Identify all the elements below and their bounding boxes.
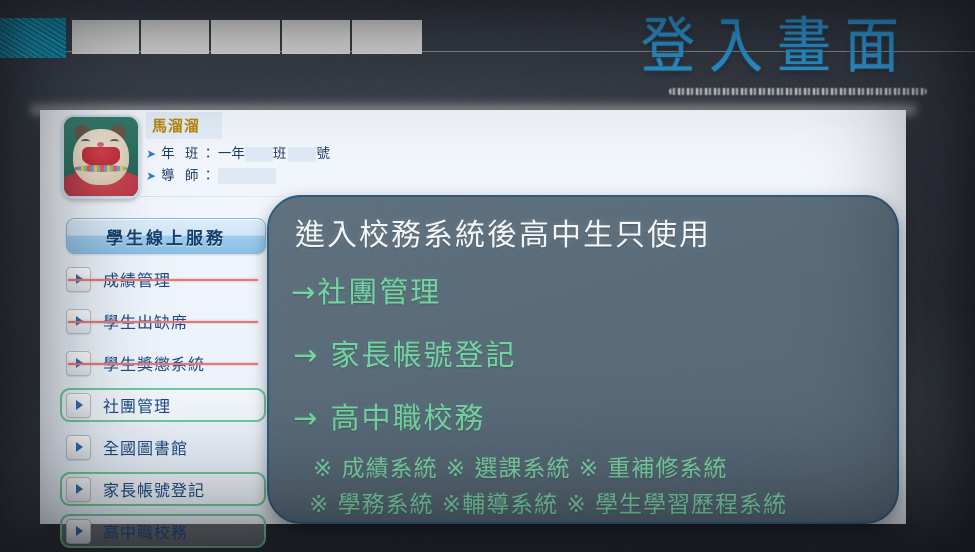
info-row-class: ➤年 班：一年班號 (146, 142, 332, 162)
sidebar-item-label: 全國圖書館 (103, 435, 188, 459)
arrow-right-icon (66, 435, 91, 460)
profile-divider (62, 196, 298, 197)
tab-1[interactable] (72, 20, 139, 54)
annotation-arrow-item: → 高中職校務 (293, 395, 486, 437)
annotation-sub-line: ※ 成績系統 ※ 選課系統 ※ 重補修系統 (313, 449, 727, 483)
sidebar-item-label: 社團管理 (103, 393, 171, 417)
sidebar-item-school-affairs[interactable]: 高中職校務 (60, 514, 266, 548)
sidebar-item-grades[interactable]: 成績管理 (60, 262, 266, 296)
sidebar-item-attendance[interactable]: 學生出缺席 (60, 304, 266, 338)
annotation-arrow-item: → 家長帳號登記 (293, 332, 517, 374)
student-profile-card: 馬溜溜 ➤年 班：一年班號 ➤導 師： (62, 112, 352, 194)
arrow-right-icon (66, 477, 91, 502)
info-label-class: 年 班： (161, 146, 218, 162)
annotation-panel: 進入校務系統後高中生只使用 →社團管理 → 家長帳號登記 → 高中職校務 ※ 成… (267, 195, 899, 524)
annotation-heading: 進入校務系統後高中生只使用 (295, 210, 711, 254)
sidebar-header-label: 學生線上服務 (106, 224, 226, 249)
sidebar-item-parent-account[interactable]: 家長帳號登記 (60, 472, 266, 506)
tab-5[interactable] (352, 20, 422, 54)
avatar-mouth (82, 147, 120, 167)
page-title: 登入畫面 (641, 16, 913, 76)
student-name: 馬溜溜 (146, 112, 222, 139)
info-value-year: 一年 (218, 146, 245, 162)
avatar-eye-right (110, 139, 119, 144)
sidebar-item-label: 家長帳號登記 (103, 477, 205, 501)
sidebar-item-label: 高中職校務 (103, 519, 188, 543)
seat-number-field[interactable] (288, 147, 316, 162)
sidebar-item-clubs[interactable]: 社團管理 (60, 388, 266, 422)
avatar-eye-left (81, 139, 90, 144)
avatar (62, 115, 140, 199)
info-row-teacher: ➤導 師： (146, 164, 276, 184)
strikethrough-line (68, 321, 258, 323)
strikethrough-line (68, 279, 258, 281)
info-label-teacher: 導 師： (161, 168, 218, 184)
tab-4[interactable] (282, 20, 350, 54)
sidebar-item-library[interactable]: 全國圖書館 (60, 430, 266, 464)
arrow-right-icon (66, 519, 91, 544)
title-chalk-underline (669, 88, 927, 95)
info-unit-number: 號 (316, 146, 332, 162)
screenshot-root: 登入畫面 馬溜溜 ➤年 班：一年班號 ➤導 師： (0, 0, 975, 552)
logo-icon (0, 18, 66, 58)
teacher-name-field[interactable] (218, 168, 276, 184)
tab-3[interactable] (211, 20, 280, 54)
strikethrough-line (68, 363, 258, 365)
tab-2[interactable] (141, 20, 209, 54)
arrow-right-icon (66, 393, 91, 418)
sidebar-header: 學生線上服務 (66, 218, 266, 254)
sidebar-item-rewards[interactable]: 學生獎懲系統 (60, 346, 266, 380)
bullet-arrow-icon: ➤ (145, 147, 157, 161)
class-number-field[interactable] (245, 147, 273, 162)
annotation-arrow-item: →社團管理 (291, 269, 441, 311)
avatar-collar (74, 165, 128, 172)
bullet-arrow-icon: ➤ (145, 169, 157, 183)
annotation-sub-line: ※ 學務系統 ※輔導系統 ※ 學生學習歷程系統 (309, 485, 787, 519)
info-unit-class: 班 (273, 146, 289, 162)
